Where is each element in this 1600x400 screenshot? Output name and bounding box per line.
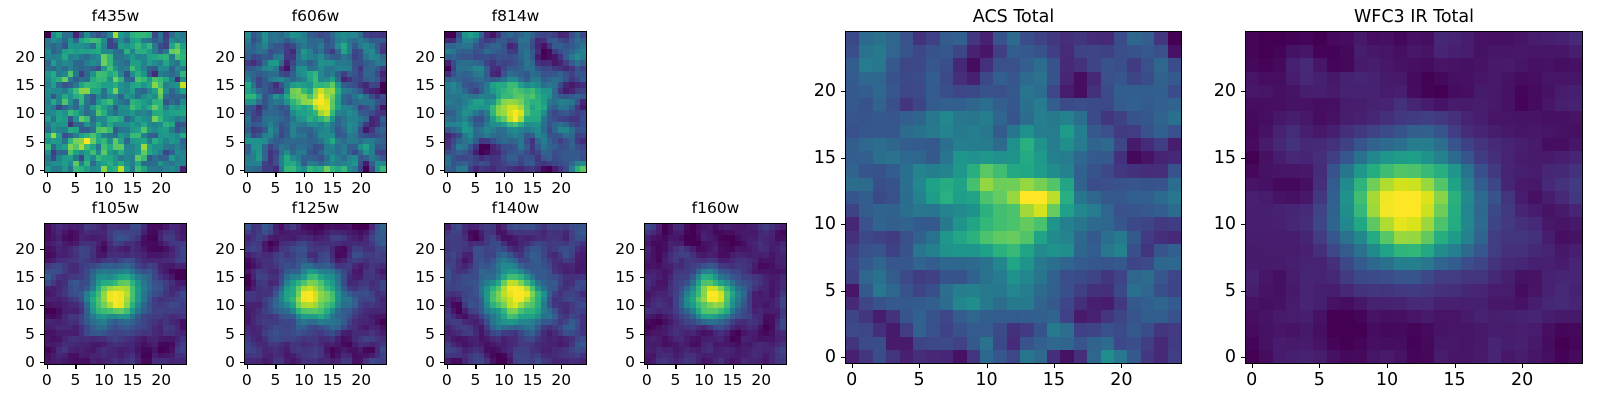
heatmap-f435w (44, 31, 187, 173)
x-tick-f160w-5 (675, 365, 676, 369)
x-tick-wfc3_total-0 (1252, 364, 1253, 368)
x-tick-wfc3_total-20 (1522, 364, 1523, 368)
y-tick-label-acs_total-0: 0 (785, 347, 836, 367)
x-tick-f435w-10 (104, 173, 105, 177)
x-tick-label-f160w-20: 20 (751, 371, 771, 389)
x-tick-f606w-0 (247, 173, 248, 177)
y-tick-label-f814w-10: 10 (384, 104, 435, 122)
y-tick-f814w-20 (440, 57, 444, 58)
y-tick-wfc3_total-0 (1241, 357, 1245, 358)
x-tick-label-f125w-5: 5 (271, 371, 281, 389)
y-tick-label-f140w-10: 10 (384, 296, 435, 314)
x-tick-label-wfc3_total-15: 15 (1443, 370, 1465, 390)
x-tick-label-f140w-0: 0 (442, 371, 452, 389)
x-tick-label-f105w-5: 5 (71, 371, 81, 389)
x-tick-label-f160w-10: 10 (694, 371, 714, 389)
x-tick-f606w-15 (333, 173, 334, 177)
y-tick-f140w-5 (440, 334, 444, 335)
x-tick-label-f140w-15: 15 (523, 371, 543, 389)
y-tick-label-wfc3_total-5: 5 (1185, 281, 1236, 301)
y-tick-f105w-5 (40, 334, 44, 335)
x-tick-label-f606w-5: 5 (271, 179, 281, 197)
y-tick-f606w-15 (240, 85, 244, 86)
x-tick-f160w-20 (761, 365, 762, 369)
x-tick-label-acs_total-0: 0 (846, 370, 857, 390)
y-tick-f160w-5 (640, 334, 644, 335)
y-tick-acs_total-20 (841, 91, 845, 92)
y-tick-label-acs_total-15: 15 (785, 148, 836, 168)
y-tick-label-f435w-0: 0 (0, 161, 35, 179)
x-tick-f606w-20 (361, 173, 362, 177)
x-tick-label-f105w-0: 0 (42, 371, 52, 389)
y-tick-label-f105w-5: 5 (0, 325, 35, 343)
y-tick-f606w-0 (240, 170, 244, 171)
x-tick-acs_total-5 (919, 364, 920, 368)
x-tick-label-f814w-5: 5 (471, 179, 481, 197)
x-tick-f105w-5 (75, 365, 76, 369)
y-tick-f160w-15 (640, 277, 644, 278)
y-tick-label-f105w-10: 10 (0, 296, 35, 314)
y-tick-f606w-20 (240, 57, 244, 58)
panel-title-acs_total: ACS Total (785, 7, 1242, 27)
x-tick-acs_total-20 (1121, 364, 1122, 368)
x-tick-f814w-15 (533, 173, 534, 177)
y-tick-f140w-20 (440, 249, 444, 250)
y-tick-label-f125w-5: 5 (184, 325, 235, 343)
x-tick-label-f140w-10: 10 (494, 371, 514, 389)
x-tick-label-f105w-15: 15 (123, 371, 143, 389)
y-tick-f140w-15 (440, 277, 444, 278)
y-tick-f435w-15 (40, 85, 44, 86)
y-tick-label-f125w-15: 15 (184, 268, 235, 286)
y-tick-label-f435w-15: 15 (0, 76, 35, 94)
x-tick-label-wfc3_total-10: 10 (1376, 370, 1398, 390)
x-tick-label-f105w-20: 20 (151, 371, 171, 389)
panel-title-f814w: f814w (384, 7, 647, 25)
y-tick-label-f105w-0: 0 (0, 353, 35, 371)
y-tick-f160w-10 (640, 305, 644, 306)
y-tick-f160w-0 (640, 362, 644, 363)
y-tick-label-f435w-10: 10 (0, 104, 35, 122)
y-tick-label-f435w-20: 20 (0, 48, 35, 66)
x-tick-label-f435w-15: 15 (123, 179, 143, 197)
y-tick-label-f160w-0: 0 (584, 353, 635, 371)
y-tick-wfc3_total-15 (1241, 158, 1245, 159)
x-tick-label-acs_total-20: 20 (1110, 370, 1132, 390)
y-tick-label-f606w-20: 20 (184, 48, 235, 66)
y-tick-f435w-0 (40, 170, 44, 171)
y-tick-acs_total-15 (841, 158, 845, 159)
x-tick-label-f814w-20: 20 (551, 179, 571, 197)
x-tick-wfc3_total-10 (1387, 364, 1388, 368)
y-tick-f125w-20 (240, 249, 244, 250)
x-tick-label-f606w-20: 20 (351, 179, 371, 197)
y-tick-f105w-15 (40, 277, 44, 278)
y-tick-f435w-20 (40, 57, 44, 58)
y-tick-f160w-20 (640, 249, 644, 250)
x-tick-f606w-5 (275, 173, 276, 177)
x-tick-label-f435w-20: 20 (151, 179, 171, 197)
y-tick-f140w-10 (440, 305, 444, 306)
y-tick-label-wfc3_total-15: 15 (1185, 148, 1236, 168)
y-tick-label-f814w-0: 0 (384, 161, 435, 179)
y-tick-label-f125w-0: 0 (184, 353, 235, 371)
x-tick-f435w-5 (75, 173, 76, 177)
y-tick-f140w-0 (440, 362, 444, 363)
y-tick-f814w-5 (440, 142, 444, 143)
x-tick-f105w-15 (133, 365, 134, 369)
heatmap-wfc3_total (1245, 31, 1583, 364)
x-tick-f140w-10 (504, 365, 505, 369)
y-tick-label-acs_total-20: 20 (785, 81, 836, 101)
y-tick-label-f606w-5: 5 (184, 133, 235, 151)
y-tick-label-f606w-0: 0 (184, 161, 235, 179)
y-tick-label-acs_total-5: 5 (785, 281, 836, 301)
x-tick-acs_total-15 (1054, 364, 1055, 368)
y-tick-f606w-5 (240, 142, 244, 143)
heatmap-f140w (444, 223, 587, 365)
x-tick-label-acs_total-10: 10 (975, 370, 997, 390)
y-tick-f435w-5 (40, 142, 44, 143)
x-tick-f814w-0 (447, 173, 448, 177)
y-tick-wfc3_total-10 (1241, 224, 1245, 225)
y-tick-label-f140w-0: 0 (384, 353, 435, 371)
y-tick-f125w-5 (240, 334, 244, 335)
x-tick-f160w-0 (647, 365, 648, 369)
heatmap-f160w (644, 223, 787, 365)
x-tick-label-f606w-0: 0 (242, 179, 252, 197)
y-tick-label-f140w-15: 15 (384, 268, 435, 286)
y-tick-f814w-10 (440, 113, 444, 114)
x-tick-acs_total-10 (987, 364, 988, 368)
x-tick-f105w-0 (47, 365, 48, 369)
y-tick-f125w-10 (240, 305, 244, 306)
x-tick-label-acs_total-15: 15 (1043, 370, 1065, 390)
x-tick-f814w-5 (475, 173, 476, 177)
x-tick-label-f814w-10: 10 (494, 179, 514, 197)
x-tick-f435w-0 (47, 173, 48, 177)
y-tick-f435w-10 (40, 113, 44, 114)
x-tick-wfc3_total-15 (1455, 364, 1456, 368)
x-tick-f606w-10 (304, 173, 305, 177)
x-tick-f125w-0 (247, 365, 248, 369)
x-tick-f814w-10 (504, 173, 505, 177)
x-tick-label-f435w-0: 0 (42, 179, 52, 197)
x-tick-f125w-20 (361, 365, 362, 369)
y-tick-acs_total-0 (841, 357, 845, 358)
y-tick-acs_total-5 (841, 291, 845, 292)
heatmap-acs_total (845, 31, 1182, 364)
x-tick-label-f435w-5: 5 (71, 179, 81, 197)
x-tick-label-f160w-5: 5 (671, 371, 681, 389)
x-tick-label-acs_total-5: 5 (914, 370, 925, 390)
y-tick-f814w-15 (440, 85, 444, 86)
heatmap-f814w (444, 31, 587, 173)
x-tick-f140w-15 (533, 365, 534, 369)
y-tick-label-wfc3_total-20: 20 (1185, 81, 1236, 101)
x-tick-f160w-10 (704, 365, 705, 369)
y-tick-wfc3_total-20 (1241, 91, 1245, 92)
x-tick-f435w-20 (161, 173, 162, 177)
x-tick-label-f125w-20: 20 (351, 371, 371, 389)
y-tick-label-f606w-15: 15 (184, 76, 235, 94)
y-tick-wfc3_total-5 (1241, 291, 1245, 292)
x-tick-f125w-10 (304, 365, 305, 369)
x-tick-acs_total-0 (852, 364, 853, 368)
heatmap-f105w (44, 223, 187, 365)
x-tick-f140w-5 (475, 365, 476, 369)
y-tick-label-f140w-5: 5 (384, 325, 435, 343)
y-tick-label-f160w-10: 10 (584, 296, 635, 314)
y-tick-label-acs_total-10: 10 (785, 214, 836, 234)
heatmap-f606w (244, 31, 387, 173)
y-tick-f125w-15 (240, 277, 244, 278)
y-tick-label-f105w-20: 20 (0, 240, 35, 258)
x-tick-label-f606w-15: 15 (323, 179, 343, 197)
y-tick-f125w-0 (240, 362, 244, 363)
y-tick-label-f160w-20: 20 (584, 240, 635, 258)
x-tick-f814w-20 (561, 173, 562, 177)
x-tick-f125w-15 (333, 365, 334, 369)
x-tick-label-f125w-0: 0 (242, 371, 252, 389)
x-tick-label-f814w-0: 0 (442, 179, 452, 197)
y-tick-f105w-20 (40, 249, 44, 250)
panel-wfc3_total: WFC3 IR Total0510152005101520 (1185, 5, 1600, 398)
x-tick-label-f125w-10: 10 (294, 371, 314, 389)
x-tick-label-f814w-15: 15 (523, 179, 543, 197)
y-tick-f105w-10 (40, 305, 44, 306)
x-tick-label-f140w-5: 5 (471, 371, 481, 389)
x-tick-label-wfc3_total-5: 5 (1314, 370, 1325, 390)
x-tick-f435w-15 (133, 173, 134, 177)
panel-f814w: f814w0510152005101520 (384, 5, 647, 207)
x-tick-f105w-20 (161, 365, 162, 369)
y-tick-label-f606w-10: 10 (184, 104, 235, 122)
y-tick-label-f435w-5: 5 (0, 133, 35, 151)
x-tick-label-f606w-10: 10 (294, 179, 314, 197)
x-tick-label-f435w-10: 10 (94, 179, 114, 197)
x-tick-f125w-5 (275, 365, 276, 369)
y-tick-label-f160w-5: 5 (584, 325, 635, 343)
y-tick-f814w-0 (440, 170, 444, 171)
y-tick-label-f814w-15: 15 (384, 76, 435, 94)
y-tick-acs_total-10 (841, 224, 845, 225)
x-tick-label-wfc3_total-0: 0 (1246, 370, 1257, 390)
y-tick-label-f814w-5: 5 (384, 133, 435, 151)
x-tick-f160w-15 (733, 365, 734, 369)
y-tick-label-f160w-15: 15 (584, 268, 635, 286)
y-tick-label-f125w-20: 20 (184, 240, 235, 258)
y-tick-label-wfc3_total-0: 0 (1185, 347, 1236, 367)
x-tick-f140w-0 (447, 365, 448, 369)
y-tick-label-wfc3_total-10: 10 (1185, 214, 1236, 234)
y-tick-label-f125w-10: 10 (184, 296, 235, 314)
y-tick-f105w-0 (40, 362, 44, 363)
x-tick-label-f105w-10: 10 (94, 371, 114, 389)
panel-acs_total: ACS Total0510152005101520 (785, 5, 1242, 398)
x-tick-f105w-10 (104, 365, 105, 369)
x-tick-label-f125w-15: 15 (323, 371, 343, 389)
x-tick-label-f140w-20: 20 (551, 371, 571, 389)
y-tick-label-f814w-20: 20 (384, 48, 435, 66)
x-tick-label-f160w-15: 15 (723, 371, 743, 389)
y-tick-label-f105w-15: 15 (0, 268, 35, 286)
x-tick-wfc3_total-5 (1319, 364, 1320, 368)
panel-title-wfc3_total: WFC3 IR Total (1185, 7, 1600, 27)
y-tick-label-f140w-20: 20 (384, 240, 435, 258)
x-tick-f140w-20 (561, 365, 562, 369)
y-tick-f606w-10 (240, 113, 244, 114)
x-tick-label-wfc3_total-20: 20 (1511, 370, 1533, 390)
heatmap-f125w (244, 223, 387, 365)
x-tick-label-f160w-0: 0 (642, 371, 652, 389)
